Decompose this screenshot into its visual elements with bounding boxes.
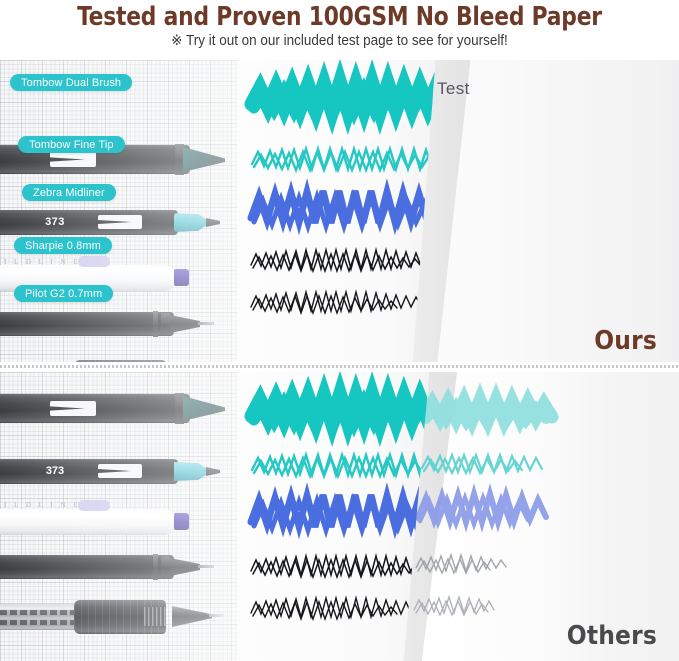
- pen-label-tombow-dual-brush: Tombow Dual Brush: [10, 74, 132, 91]
- test-page-area-others: Others: [238, 372, 679, 661]
- stroke-black-gel: [251, 598, 421, 619]
- pen-label-sharpie: Sharpie 0.8mm: [14, 237, 112, 254]
- page-subtitle: ※ Try it out on our included test page t…: [24, 33, 655, 49]
- ink-strokes-others: [238, 372, 679, 661]
- infographic-root: Tested and Proven 100GSM No Bleed Paper …: [0, 0, 679, 661]
- stroke-blue: [251, 191, 443, 226]
- label-others: Others: [567, 621, 657, 651]
- stroke-teal-fine: [252, 455, 444, 476]
- grid-light-overlay: [0, 372, 258, 661]
- panel-ours: 373 M I L D L I N E R: [0, 60, 679, 362]
- pen-display-area-ours: 373 M I L D L I N E R: [0, 60, 258, 362]
- pen-label-pilot-g2: Pilot G2 0.7mm: [14, 285, 113, 302]
- pen-display-area-others: 373 M I L D L I N E R: [0, 372, 258, 661]
- test-page-area-ours: Test: [238, 60, 679, 362]
- label-ours: Ours: [594, 326, 657, 356]
- pen-label-tombow-fine-tip: Tombow Fine Tip: [18, 136, 125, 153]
- stroke-black-sharpie: [251, 556, 436, 577]
- pen-label-zebra-midliner: Zebra Midliner: [22, 184, 116, 201]
- stroke-teal-brush: [252, 84, 444, 112]
- panel-others: 373 M I L D L I N E R: [0, 372, 679, 661]
- ink-strokes-ours: [238, 60, 679, 362]
- stroke-blue: [251, 495, 443, 530]
- panel-divider: [0, 365, 679, 368]
- stroke-teal-brush: [252, 396, 444, 424]
- grid-light-overlay: [0, 60, 258, 362]
- stroke-black-sharpie: [251, 250, 436, 271]
- test-page-corner-word: Test: [437, 79, 470, 99]
- header: Tested and Proven 100GSM No Bleed Paper …: [0, 0, 679, 58]
- page-title: Tested and Proven 100GSM No Bleed Paper: [17, 2, 662, 32]
- stroke-black-gel: [251, 292, 421, 313]
- stroke-teal-fine: [252, 149, 444, 170]
